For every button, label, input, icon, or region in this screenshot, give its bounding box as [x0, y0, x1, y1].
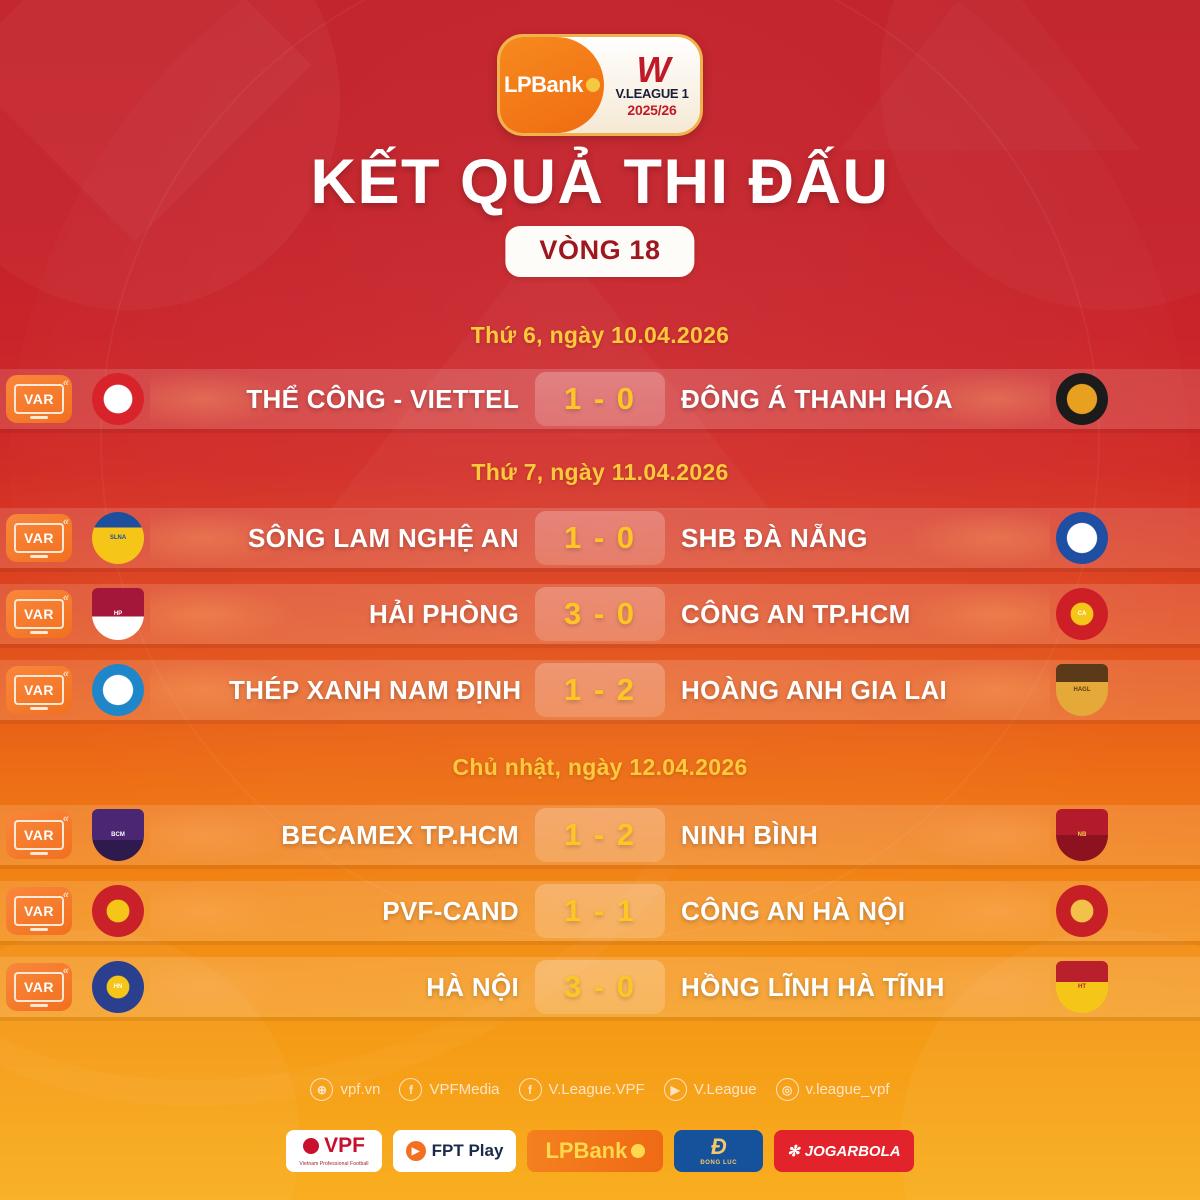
- lpbank-logo: LPBank: [500, 37, 604, 133]
- var-flick-icon: «: [63, 377, 69, 389]
- social-link[interactable]: ▶ V.League: [664, 1078, 757, 1101]
- var-badge[interactable]: VAR «: [6, 375, 72, 423]
- sponsor-vpf[interactable]: VPF Vietnam Professional Football: [286, 1130, 381, 1172]
- away-crest: HT: [1056, 961, 1108, 1013]
- match-row[interactable]: VAR « BCM NB BECAMEX TP.HCM 1 - 2 NINH B…: [0, 805, 1200, 865]
- vleague-w-mark: W: [637, 56, 668, 85]
- page-title: KẾT QUẢ THI ĐẤU: [0, 146, 1200, 218]
- score: 3 - 0: [535, 960, 665, 1014]
- day-block: Thứ 7, ngày 11.04.2026 VAR « SLNA SHB SÔ…: [0, 459, 1200, 720]
- var-flick-icon: «: [63, 668, 69, 680]
- var-badge[interactable]: VAR «: [6, 963, 72, 1011]
- var-flick-icon: «: [63, 965, 69, 977]
- sponsor-bar: VPF Vietnam Professional Football ▶ FPT …: [0, 1130, 1200, 1172]
- sponsor-sub: Vietnam Professional Football: [299, 1162, 368, 1167]
- round-badge: VÒNG 18: [505, 226, 694, 277]
- away-team-name: HỒNG LĨNH HÀ TĨNH: [681, 972, 971, 1003]
- var-badge[interactable]: VAR «: [6, 811, 72, 859]
- score: 1 - 1: [535, 884, 665, 938]
- social-label: V.League.VPF: [549, 1081, 645, 1098]
- away-team-name: CÔNG AN HÀ NỘI: [681, 896, 971, 927]
- facebook-icon: f: [399, 1078, 422, 1101]
- score: 1 - 2: [535, 663, 665, 717]
- social-label: v.league_vpf: [806, 1081, 890, 1098]
- social-link[interactable]: f V.League.VPF: [519, 1078, 645, 1101]
- social-link[interactable]: f VPFMedia: [399, 1078, 499, 1101]
- home-crest: HP: [92, 588, 144, 640]
- away-crest: CA: [1056, 588, 1108, 640]
- match-row[interactable]: VAR « NĐ HAGL THÉP XANH NAM ĐỊNH 1 - 2 H…: [0, 660, 1200, 720]
- home-team-name: SÔNG LAM NGHỆ AN: [229, 523, 519, 554]
- score: 1 - 0: [535, 511, 665, 565]
- match-row[interactable]: VAR « HP CA HẢI PHÒNG 3 - 0 CÔNG AN TP.H…: [0, 584, 1200, 644]
- var-label: VAR: [24, 530, 54, 546]
- var-flick-icon: «: [63, 516, 69, 528]
- globe-icon: ⊕: [310, 1078, 333, 1101]
- away-crest: TH: [1056, 373, 1108, 425]
- var-label: VAR: [24, 827, 54, 843]
- lpbank-label: LPBank: [504, 72, 583, 98]
- score: 1 - 0: [535, 372, 665, 426]
- var-badge[interactable]: VAR «: [6, 887, 72, 935]
- home-team-name: PVF-CAND: [229, 896, 519, 927]
- social-links: ⊕ vpf.vn f VPFMedia f V.League.VPF ▶ V.L…: [0, 1078, 1200, 1101]
- away-team-name: HOÀNG ANH GIA LAI: [681, 675, 971, 706]
- youtube-icon: ▶: [664, 1078, 687, 1101]
- var-badge[interactable]: VAR «: [6, 666, 72, 714]
- var-flick-icon: «: [63, 592, 69, 604]
- home-crest: HN: [92, 961, 144, 1013]
- social-link[interactable]: ◎ v.league_vpf: [776, 1078, 890, 1101]
- score: 1 - 2: [535, 808, 665, 862]
- sponsor-lpbank[interactable]: LPBank: [527, 1130, 663, 1172]
- var-badge[interactable]: VAR «: [6, 590, 72, 638]
- social-label: V.League: [694, 1081, 757, 1098]
- home-team-name: THỂ CÔNG - VIETTEL: [229, 384, 519, 415]
- vpf-ball-icon: [303, 1138, 319, 1154]
- day-block: Thứ 6, ngày 10.04.2026 VAR « TC TH THỂ C…: [0, 322, 1200, 429]
- var-badge[interactable]: VAR «: [6, 514, 72, 562]
- away-crest: CAHN: [1056, 885, 1108, 937]
- day-block: Chủ nhật, ngày 12.04.2026 VAR « BCM NB B…: [0, 754, 1200, 1017]
- away-crest: SHB: [1056, 512, 1108, 564]
- home-crest: NĐ: [92, 664, 144, 716]
- match-row[interactable]: VAR « PVF CAHN PVF-CAND 1 - 1 CÔNG AN HÀ…: [0, 881, 1200, 941]
- var-label: VAR: [24, 903, 54, 919]
- var-label: VAR: [24, 606, 54, 622]
- date-header: Thứ 6, ngày 10.04.2026: [0, 322, 1200, 349]
- var-label: VAR: [24, 979, 54, 995]
- dong-luc-monogram: Ð: [711, 1136, 727, 1158]
- home-team-name: BECAMEX TP.HCM: [229, 820, 519, 851]
- sponsor-name: JOGARBOLA: [805, 1143, 901, 1160]
- vleague-season: 2025/26: [627, 102, 676, 118]
- away-crest: NB: [1056, 809, 1108, 861]
- home-team-name: THÉP XANH NAM ĐỊNH: [229, 675, 519, 706]
- date-header: Thứ 7, ngày 11.04.2026: [0, 459, 1200, 486]
- match-row[interactable]: VAR « SLNA SHB SÔNG LAM NGHỆ AN 1 - 0 SH…: [0, 508, 1200, 568]
- sponsor-dong-luc[interactable]: Ð ĐONG LUC: [674, 1130, 763, 1172]
- vleague-name: V.LEAGUE 1: [615, 86, 688, 101]
- home-team-name: HÀ NỘI: [229, 972, 519, 1003]
- lpbank-mark-icon: [586, 78, 600, 92]
- social-label: vpf.vn: [340, 1081, 380, 1098]
- home-crest: SLNA: [92, 512, 144, 564]
- play-icon: ▶: [406, 1141, 426, 1161]
- results-list: Thứ 6, ngày 10.04.2026 VAR « TC TH THỂ C…: [0, 300, 1200, 1033]
- var-flick-icon: «: [63, 813, 69, 825]
- away-team-name: CÔNG AN TP.HCM: [681, 599, 971, 630]
- sponsor-sub: ĐONG LUC: [700, 1160, 737, 1166]
- sponsor-name: VPF: [324, 1135, 365, 1156]
- lpbank-mark-icon: [631, 1144, 645, 1158]
- sponsor-jogarbola[interactable]: ✻ JOGARBOLA: [774, 1130, 913, 1172]
- var-label: VAR: [24, 682, 54, 698]
- match-row[interactable]: VAR « TC TH THỂ CÔNG - VIETTEL 1 - 0 ĐÔN…: [0, 369, 1200, 429]
- match-row[interactable]: VAR « HN HT HÀ NỘI 3 - 0 HỒNG LĨNH HÀ TĨ…: [0, 957, 1200, 1017]
- facebook-icon: f: [519, 1078, 542, 1101]
- away-team-name: ĐÔNG Á THANH HÓA: [681, 384, 971, 415]
- jogarbola-mark-icon: ✻: [787, 1142, 800, 1160]
- away-crest: HAGL: [1056, 664, 1108, 716]
- sponsor-fpt-play[interactable]: ▶ FPT Play: [393, 1130, 517, 1172]
- var-flick-icon: «: [63, 889, 69, 901]
- away-team-name: SHB ĐÀ NẴNG: [681, 523, 971, 554]
- sponsor-name: FPT Play: [432, 1141, 504, 1161]
- instagram-icon: ◎: [776, 1078, 799, 1101]
- social-link[interactable]: ⊕ vpf.vn: [310, 1078, 380, 1101]
- sponsor-name: LPBank: [545, 1138, 627, 1164]
- date-header: Chủ nhật, ngày 12.04.2026: [0, 754, 1200, 781]
- score: 3 - 0: [535, 587, 665, 641]
- away-team-name: NINH BÌNH: [681, 820, 971, 851]
- social-label: VPFMedia: [429, 1081, 499, 1098]
- league-logo: LPBank W V.LEAGUE 1 2025/26: [497, 34, 703, 136]
- home-crest: BCM: [92, 809, 144, 861]
- var-label: VAR: [24, 391, 54, 407]
- home-crest: TC: [92, 373, 144, 425]
- home-crest: PVF: [92, 885, 144, 937]
- home-team-name: HẢI PHÒNG: [229, 599, 519, 630]
